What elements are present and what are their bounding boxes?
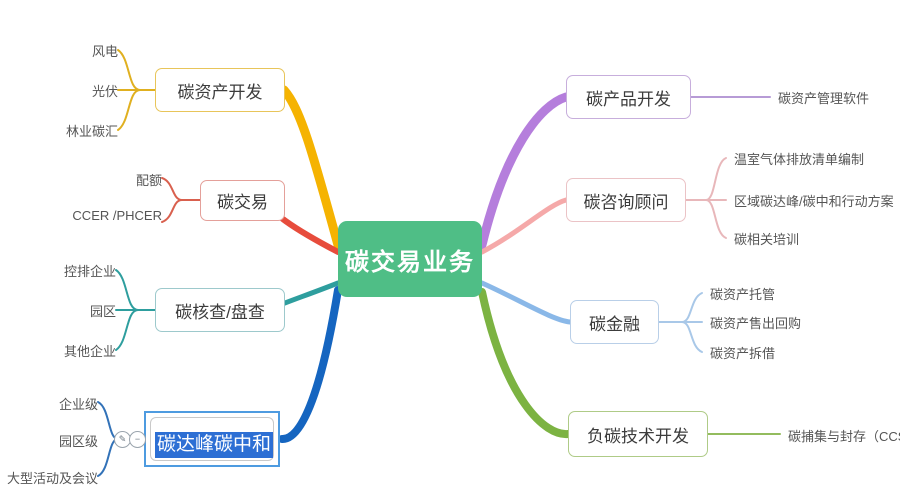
- leaf-wind-power[interactable]: 风电: [40, 41, 118, 60]
- leaf-carbon-asset-sale-repurchase[interactable]: 碳资产售出回购: [710, 313, 801, 332]
- leaf-regional-peak-neutrality-plan[interactable]: 区域碳达峰/碳中和行动方案: [734, 191, 894, 210]
- leaf-carbon-asset-management-software[interactable]: 碳资产管理软件: [778, 88, 869, 107]
- leaf-enterprise-level[interactable]: 企业级: [32, 394, 98, 413]
- node-carbon-verification[interactable]: 碳核查/盘查: [155, 288, 285, 332]
- center-node[interactable]: 碳交易业务: [338, 221, 482, 297]
- connector-carbon-consulting: [482, 200, 566, 252]
- leaf-park-level[interactable]: 园区级: [32, 431, 98, 450]
- connector-carbon-asset-development: [284, 90, 338, 245]
- node-edit-selected-text[interactable]: 碳达峰碳中和: [155, 432, 273, 458]
- leaf-other-enterprise[interactable]: 其他企业: [36, 341, 116, 360]
- leaf-ghg-emission-inventory[interactable]: 温室气体排放清单编制: [734, 149, 864, 168]
- node-label: 碳交易: [217, 188, 268, 213]
- leaf-park[interactable]: 园区: [56, 301, 116, 320]
- mindmap-canvas[interactable]: 碳交易业务 碳资产开发 风电 光伏 林业碳汇 碳交易 配额 CCER /PHCE…: [0, 0, 900, 489]
- collapse-icon[interactable]: −: [129, 431, 146, 448]
- node-edit-textfield[interactable]: 碳达峰碳中和: [155, 432, 269, 458]
- node-edit-inner-box: 碳达峰碳中和: [150, 417, 274, 461]
- node-carbon-peak-neutrality-editing[interactable]: 碳达峰碳中和: [144, 411, 280, 467]
- leaf-carbon-asset-lending[interactable]: 碳资产拆借: [710, 343, 775, 362]
- connector-carbon-product-development: [482, 97, 566, 245]
- leaf-large-events-conferences[interactable]: 大型活动及会议: [4, 468, 98, 487]
- connector-negative-carbon-tech: [482, 292, 568, 434]
- node-carbon-asset-development[interactable]: 碳资产开发: [155, 68, 285, 112]
- leaf-ccs[interactable]: 碳捕集与封存（CCS）: [788, 426, 900, 445]
- connector-carbon-finance: [482, 283, 570, 322]
- leaf-photovoltaic[interactable]: 光伏: [40, 81, 118, 100]
- leaf-controlled-enterprise[interactable]: 控排企业: [36, 261, 116, 280]
- node-label: 碳核查/盘查: [175, 298, 265, 323]
- node-carbon-product-development[interactable]: 碳产品开发: [566, 75, 691, 119]
- node-negative-carbon-tech[interactable]: 负碳技术开发: [568, 411, 708, 457]
- node-label: 负碳技术开发: [587, 422, 689, 447]
- node-carbon-trading[interactable]: 碳交易: [200, 180, 285, 221]
- leaf-carbon-training[interactable]: 碳相关培训: [734, 229, 799, 248]
- leaf-quota[interactable]: 配额: [88, 170, 162, 189]
- node-label: 碳咨询顾问: [584, 188, 669, 213]
- node-carbon-consulting[interactable]: 碳咨询顾问: [566, 178, 686, 222]
- leaf-ccer-phcer[interactable]: CCER /PHCER: [46, 208, 162, 223]
- connector-carbon-peak-neutrality: [282, 290, 338, 439]
- leaf-carbon-asset-custody[interactable]: 碳资产托管: [710, 284, 775, 303]
- leaf-forestry-carbon-sink[interactable]: 林业碳汇: [28, 121, 118, 140]
- node-label: 碳产品开发: [586, 85, 671, 110]
- node-carbon-finance[interactable]: 碳金融: [570, 300, 659, 344]
- node-label: 碳金融: [589, 310, 640, 335]
- node-label: 碳资产开发: [178, 78, 263, 103]
